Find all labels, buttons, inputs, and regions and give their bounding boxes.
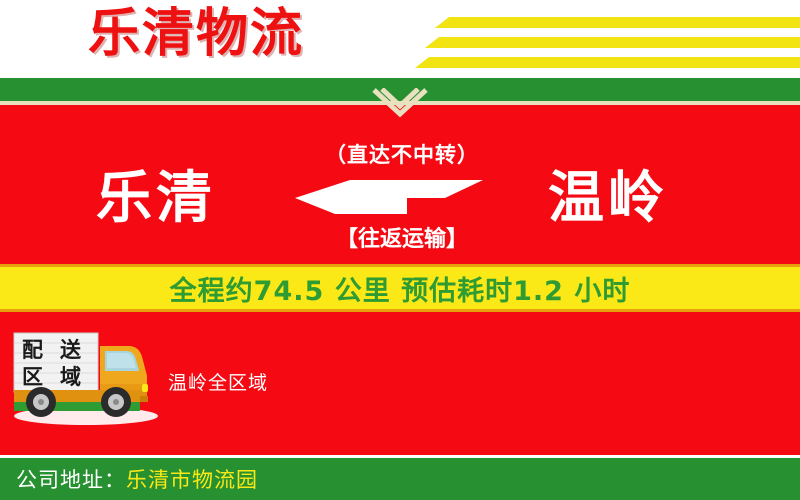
stripe-1 — [435, 17, 800, 28]
stripe-3 — [415, 57, 800, 68]
company-address: 公司地址： 乐清市物流园 — [16, 458, 258, 500]
svg-text:配: 配 — [22, 338, 43, 362]
roundtrip-note: 【往返运输】 — [298, 221, 506, 253]
direct-service-note: （直达不中转） — [300, 139, 504, 169]
logistics-banner: 乐清物流 乐清 温岭 （直达不中转） 【往返运输】 全程约74.5 公里 预估 — [0, 0, 800, 500]
bidirectional-arrow-icon — [295, 176, 485, 220]
page-title: 乐清物流 — [88, 2, 304, 66]
svg-text:送: 送 — [60, 338, 82, 362]
svg-text:区: 区 — [22, 365, 43, 389]
address-label: 公司地址： — [16, 464, 126, 494]
banner-header: 乐清物流 — [0, 0, 800, 78]
decorative-stripes — [420, 12, 800, 70]
coverage-area-text: 温岭全区域 — [168, 368, 268, 395]
chevron-down-icon — [371, 88, 429, 120]
origin-city: 乐清 — [96, 168, 216, 230]
stripe-2 — [425, 37, 800, 48]
address-value: 乐清市物流园 — [126, 464, 258, 494]
svg-text:域: 域 — [60, 365, 81, 389]
delivery-truck-icon: 配 送 区 域 — [8, 324, 168, 428]
destination-city: 温岭 — [548, 168, 668, 230]
distance-info-text: 全程约74.5 公里 预估耗时1.2 小时 — [0, 267, 800, 309]
